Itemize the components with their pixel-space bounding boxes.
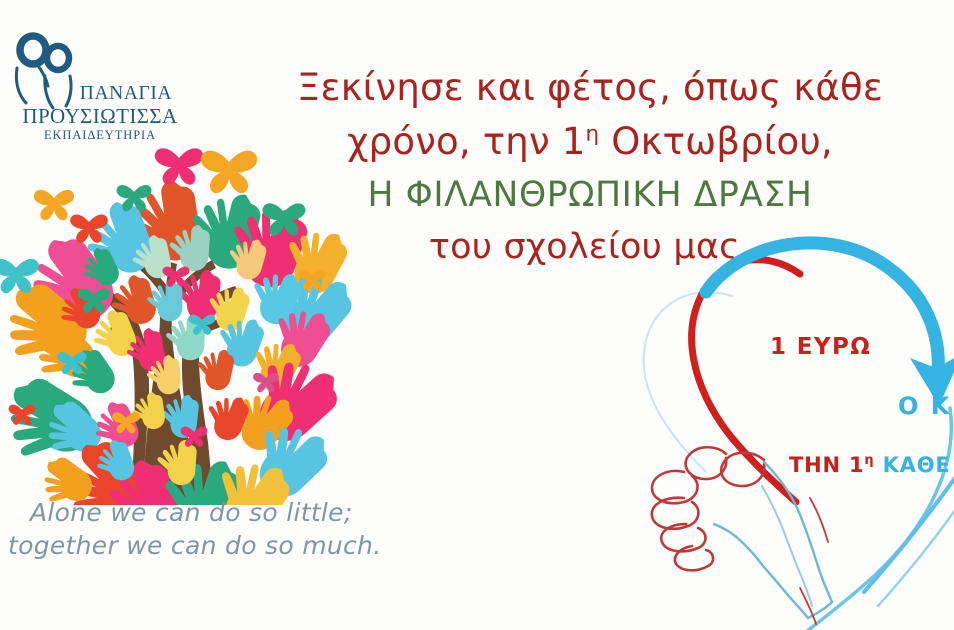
label-thn-blue: [874, 453, 882, 477]
logo-line-1: ΠΑΝΑΓΙΑ: [4, 84, 196, 105]
headline-line-3: Η ΦΙΛΑΝΘΡΩΠΙΚΗ ΔΡΑΣΗ: [290, 169, 890, 222]
school-logo: ΠΑΝΑΓΙΑ ΠΡΟΥΣΙΩΤΙΣΣΑ ΕΚΠΑΙΔΕΥΤΗΡΙΑ: [4, 22, 196, 144]
headline-line-2-a: χρόνο, την 1: [347, 120, 585, 163]
headline-line-2-ordinal: η: [586, 121, 600, 146]
poster-canvas: ΠΑΝΑΓΙΑ ΠΡΟΥΣΙΩΤΙΣΣΑ ΕΚΠΑΙΔΕΥΤΗΡΙΑ: [0, 0, 954, 630]
label-o-k: Ο Κ: [898, 392, 951, 420]
headline-line-1: Ξεκίνησε και φέτος, όπως κάθε: [290, 62, 890, 115]
label-thn-red: ΤΗΝ 1: [789, 453, 864, 477]
quote-line-1: Alone we can do so little;: [8, 496, 408, 529]
logo-line-2: ΠΡΟΥΣΙΩΤΙΣΣΑ: [4, 105, 196, 127]
label-thn-ordinal: η: [864, 453, 874, 468]
heart-arrow-hand-illustration: [614, 236, 954, 630]
logo-wordmark: ΠΑΝΑΓΙΑ ΠΡΟΥΣΙΩΤΙΣΣΑ ΕΚΠΑΙΔΕΥΤΗΡΙΑ: [4, 84, 196, 142]
label-thn-kathe: ΤΗΝ 1η ΚΑΘΕ: [789, 453, 951, 477]
label-one-euro: 1 ΕΥΡΩ: [770, 334, 871, 360]
headline-line-2: χρόνο, την 1η Οκτωβρίου,: [290, 115, 890, 170]
quote-line-2: together we can do so much.: [8, 529, 408, 562]
headline-line-2-b: Οκτωβρίου,: [599, 120, 833, 163]
inspirational-quote: Alone we can do so little; together we c…: [8, 496, 408, 562]
label-kathe: ΚΑΘΕ: [883, 453, 951, 477]
